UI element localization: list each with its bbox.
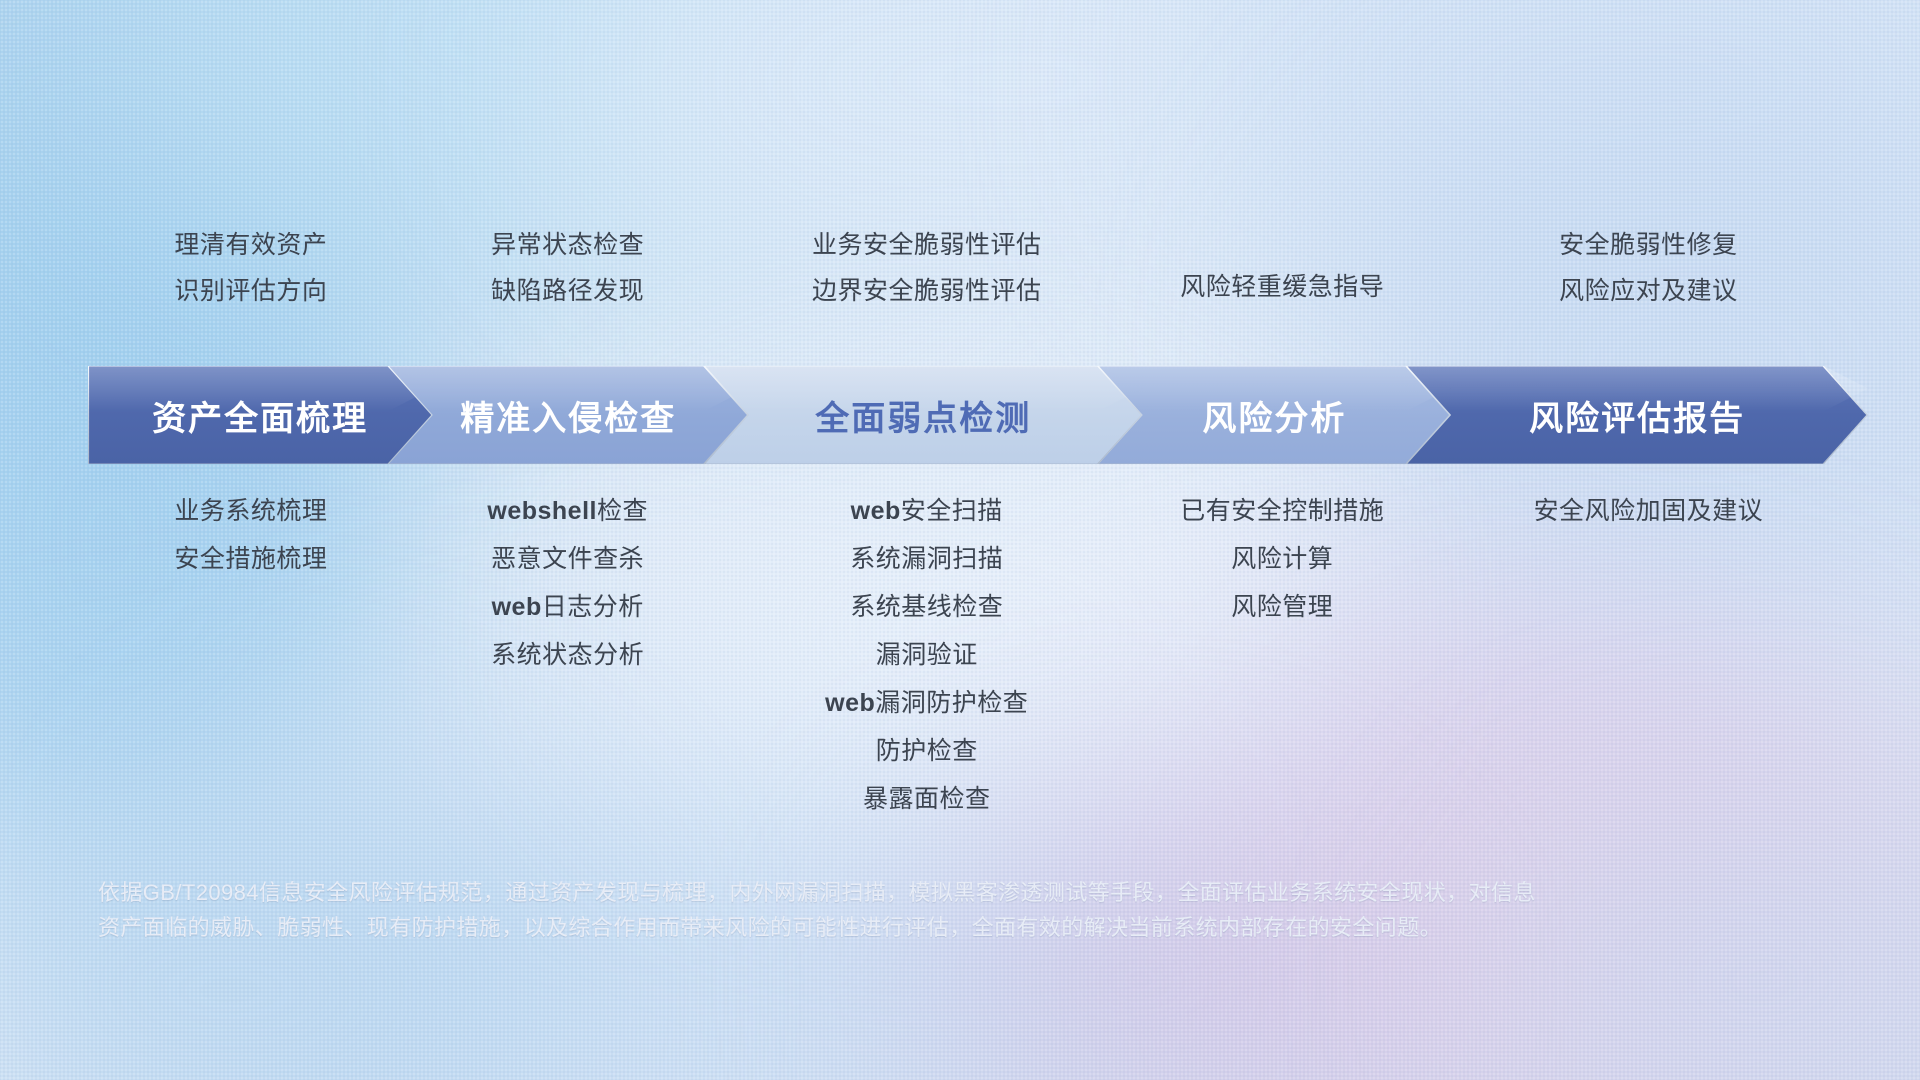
- bottom-point: 安全措施梳理: [174, 543, 327, 575]
- top-point: 风险应对及建议: [1559, 274, 1738, 308]
- bottom-point: 恶意文件查杀: [491, 543, 644, 575]
- bottom-point: 业务系统梳理: [174, 495, 327, 527]
- slide-canvas: 理清有效资产识别评估方向异常状态检查缺陷路径发现业务安全脆弱性评估边界安全脆弱性…: [0, 0, 1920, 1080]
- process-step-weakness-detection[interactable]: 全面弱点检测: [704, 366, 1142, 464]
- process-step-label: 资产全面梳理: [152, 391, 368, 440]
- bottom-points-row: 业务系统梳理安全措施梳理webshell检查恶意文件查杀web日志分析系统状态分…: [96, 495, 1856, 815]
- bottom-point: 防护检查: [876, 735, 978, 767]
- process-step-intrusion-check[interactable]: 精准入侵检查: [388, 366, 748, 464]
- top-points-col-weakness-detection: 业务安全脆弱性评估边界安全脆弱性评估: [730, 228, 1124, 308]
- footer-line-1: 依据GB/T20984信息安全风险评估规范，通过资产发现与梳理，内外网漏洞扫描，…: [98, 875, 1718, 910]
- bottom-point: 已有安全控制措施: [1180, 495, 1384, 527]
- bottom-point-latin: web: [492, 593, 542, 621]
- bottom-point-latin: web: [851, 497, 901, 525]
- bottom-point: 系统状态分析: [491, 639, 644, 671]
- bottom-point: 风险计算: [1231, 543, 1333, 575]
- footer-description: 依据GB/T20984信息安全风险评估规范，通过资产发现与梳理，内外网漏洞扫描，…: [98, 875, 1718, 945]
- bottom-points-col-asset-inventory: 业务系统梳理安全措施梳理: [96, 495, 406, 575]
- bottom-point-latin: webshell: [487, 497, 597, 525]
- process-step-assessment-report[interactable]: 风险评估报告: [1406, 366, 1868, 464]
- bottom-points-col-weakness-detection: web安全扫描系统漏洞扫描系统基线检查漏洞验证web漏洞防护检查防护检查暴露面检…: [730, 495, 1124, 815]
- bottom-points-col-intrusion-check: webshell检查恶意文件查杀web日志分析系统状态分析: [406, 495, 730, 671]
- bottom-point: web日志分析: [492, 591, 644, 623]
- bottom-point-cn: 检查: [597, 497, 648, 525]
- bottom-point-latin: web: [825, 689, 875, 717]
- bottom-point-cn: 安全扫描: [901, 497, 1003, 525]
- top-point: 安全脆弱性修复: [1559, 228, 1738, 262]
- bottom-point-cn: 日志分析: [542, 593, 644, 621]
- process-chevron-band: 资产全面梳理精准入侵检查全面弱点检测风险分析风险评估报告: [88, 366, 1868, 464]
- top-point: 理清有效资产: [174, 228, 327, 262]
- bottom-points-col-risk-analysis: 已有安全控制措施风险计算风险管理: [1124, 495, 1441, 623]
- bottom-point-cn: 漏洞防护检查: [875, 689, 1028, 717]
- process-step-risk-analysis[interactable]: 风险分析: [1098, 366, 1450, 464]
- top-points-row: 理清有效资产识别评估方向异常状态检查缺陷路径发现业务安全脆弱性评估边界安全脆弱性…: [96, 228, 1856, 308]
- bottom-point: 系统基线检查: [850, 591, 1003, 623]
- top-points-col-risk-analysis: 风险轻重缓急指导: [1124, 228, 1441, 308]
- top-point: 缺陷路径发现: [491, 274, 644, 308]
- bottom-point: web漏洞防护检查: [825, 687, 1028, 719]
- process-step-asset-inventory[interactable]: 资产全面梳理: [88, 366, 432, 464]
- bottom-point: 系统漏洞扫描: [850, 543, 1003, 575]
- bottom-point: 漏洞验证: [876, 639, 978, 671]
- process-step-label: 精准入侵检查: [460, 391, 676, 440]
- bottom-point: webshell检查: [487, 495, 648, 527]
- bottom-point: web安全扫描: [851, 495, 1003, 527]
- top-points-col-asset-inventory: 理清有效资产识别评估方向: [96, 228, 406, 308]
- top-points-col-intrusion-check: 异常状态检查缺陷路径发现: [406, 228, 730, 308]
- bottom-point: 暴露面检查: [863, 783, 991, 815]
- bottom-point: 风险管理: [1231, 591, 1333, 623]
- top-point: 风险轻重缓急指导: [1180, 270, 1384, 304]
- top-point: 业务安全脆弱性评估: [812, 228, 1042, 262]
- bottom-point: 安全风险加固及建议: [1534, 495, 1764, 527]
- top-point: 异常状态检查: [491, 228, 644, 262]
- process-step-label: 风险评估报告: [1529, 391, 1745, 440]
- footer-line-2: 资产面临的威胁、脆弱性、现有防护措施，以及综合作用而带来风险的可能性进行评估，全…: [98, 910, 1718, 945]
- top-point: 边界安全脆弱性评估: [812, 274, 1042, 308]
- bottom-points-col-assessment-report: 安全风险加固及建议: [1441, 495, 1856, 527]
- top-points-col-assessment-report: 安全脆弱性修复风险应对及建议: [1441, 228, 1856, 308]
- process-step-label: 风险分析: [1202, 391, 1346, 440]
- top-point: 识别评估方向: [174, 274, 327, 308]
- process-step-label: 全面弱点检测: [815, 391, 1031, 440]
